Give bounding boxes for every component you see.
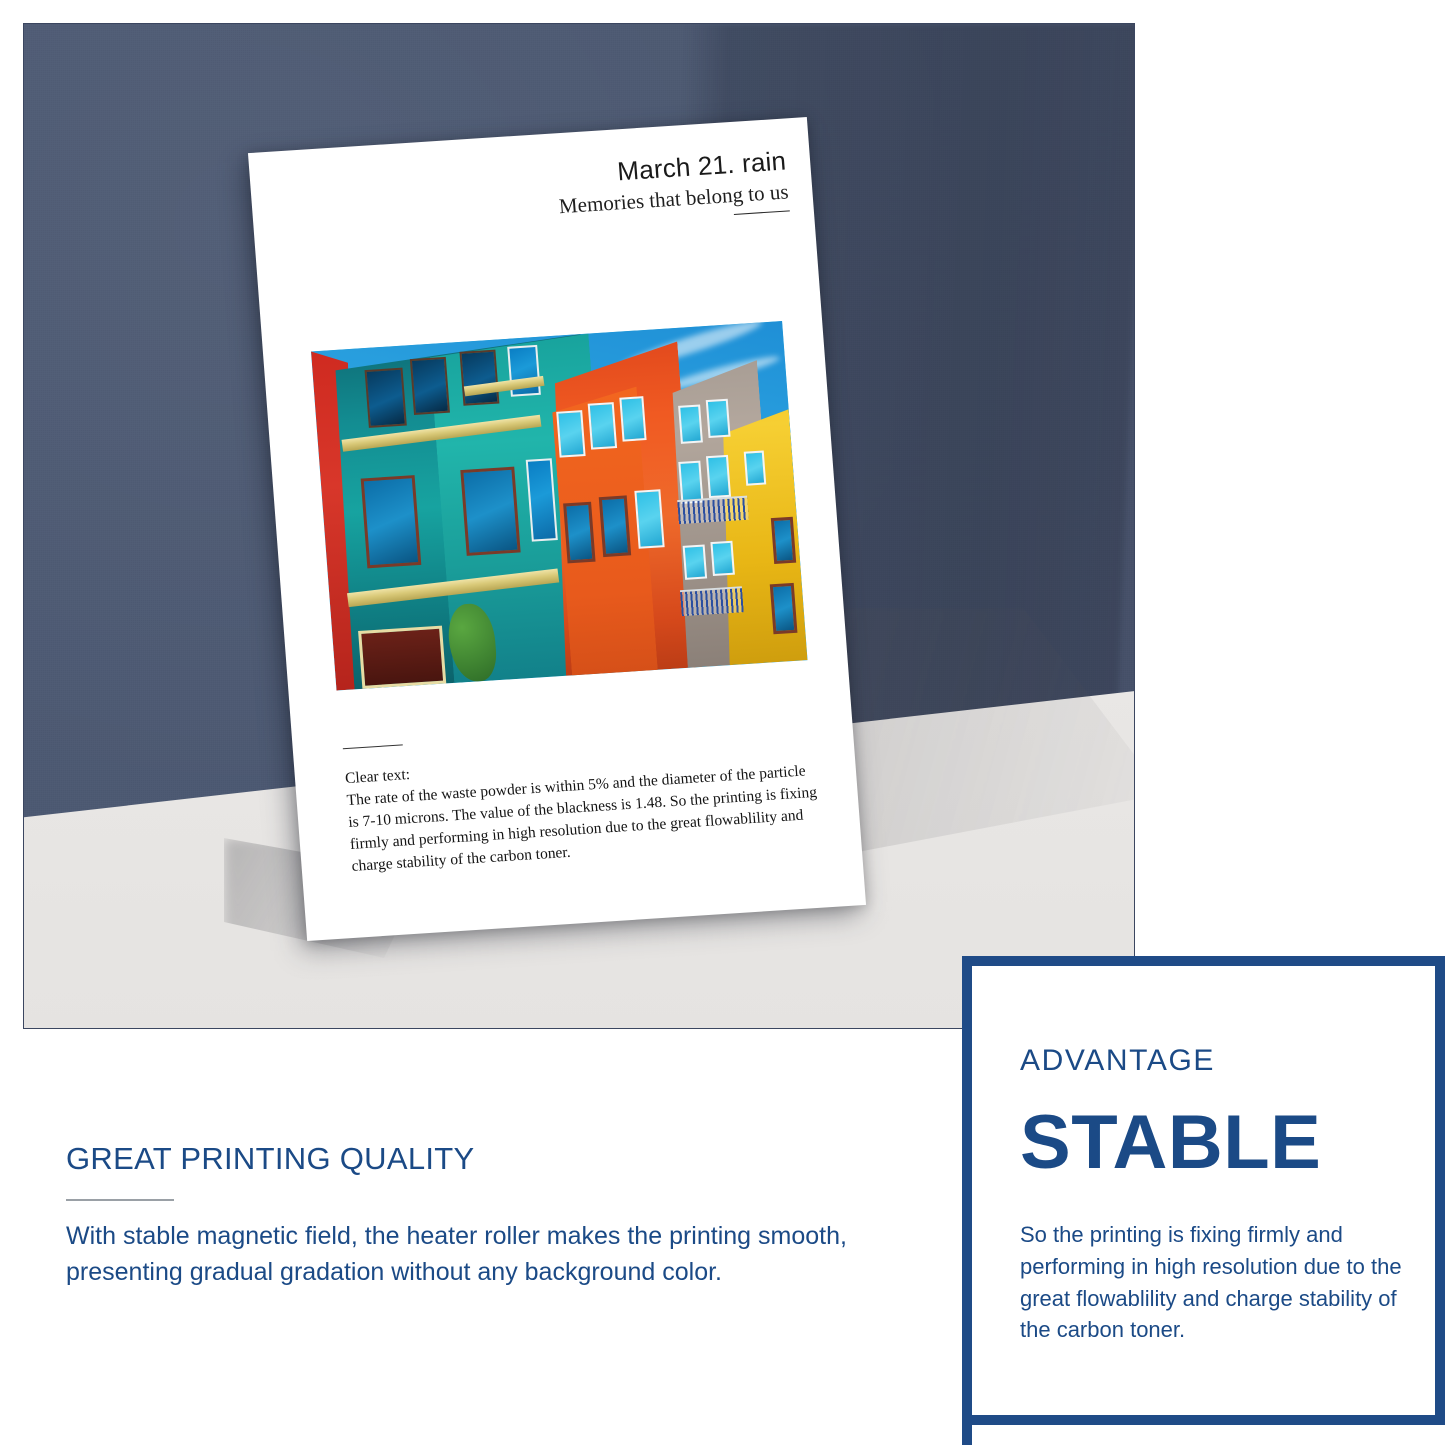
bl-divider	[66, 1199, 174, 1201]
window	[706, 455, 731, 498]
card-surface: March 21. rain Memories that belong to u…	[248, 117, 866, 941]
balcony-railing	[677, 496, 749, 524]
window	[744, 451, 767, 486]
tilted-paper-card: March 21. rain Memories that belong to u…	[248, 117, 866, 941]
window	[361, 475, 422, 568]
colorful-row-houses-photo	[311, 321, 808, 691]
card-header-rule	[734, 210, 790, 215]
bl-body: With stable magnetic field, the heater r…	[66, 1219, 866, 1290]
window	[634, 489, 664, 549]
window	[599, 495, 631, 557]
window	[771, 517, 796, 564]
bl-title: GREAT PRINTING QUALITY	[66, 1140, 866, 1177]
window	[460, 467, 520, 556]
window	[588, 402, 617, 450]
great-printing-quality-block: GREAT PRINTING QUALITY With stable magne…	[66, 1140, 866, 1290]
balcony-railing	[680, 586, 744, 616]
card-body-rule	[343, 744, 403, 749]
card-body: Clear text: The rate of the waste powder…	[344, 738, 821, 878]
advantage-panel: ADVANTAGE STABLE So the printing is fixi…	[962, 956, 1445, 1445]
advantage-body: So the printing is fixing firmly and per…	[1020, 1219, 1405, 1347]
window	[710, 541, 735, 576]
window	[619, 396, 646, 441]
window	[770, 583, 798, 634]
window	[556, 410, 585, 458]
window	[459, 350, 499, 406]
advantage-headline: STABLE	[1020, 1103, 1405, 1183]
window	[410, 357, 450, 415]
advantage-eyebrow: ADVANTAGE	[1020, 1044, 1405, 1077]
window	[563, 502, 595, 564]
window	[706, 399, 731, 438]
window	[678, 461, 703, 504]
window	[678, 405, 703, 444]
entrance-door	[358, 626, 446, 689]
card-header: March 21. rain Memories that belong to u…	[556, 147, 790, 227]
window	[365, 368, 407, 428]
window	[683, 545, 708, 580]
scene-photo: March 21. rain Memories that belong to u…	[23, 23, 1135, 1029]
